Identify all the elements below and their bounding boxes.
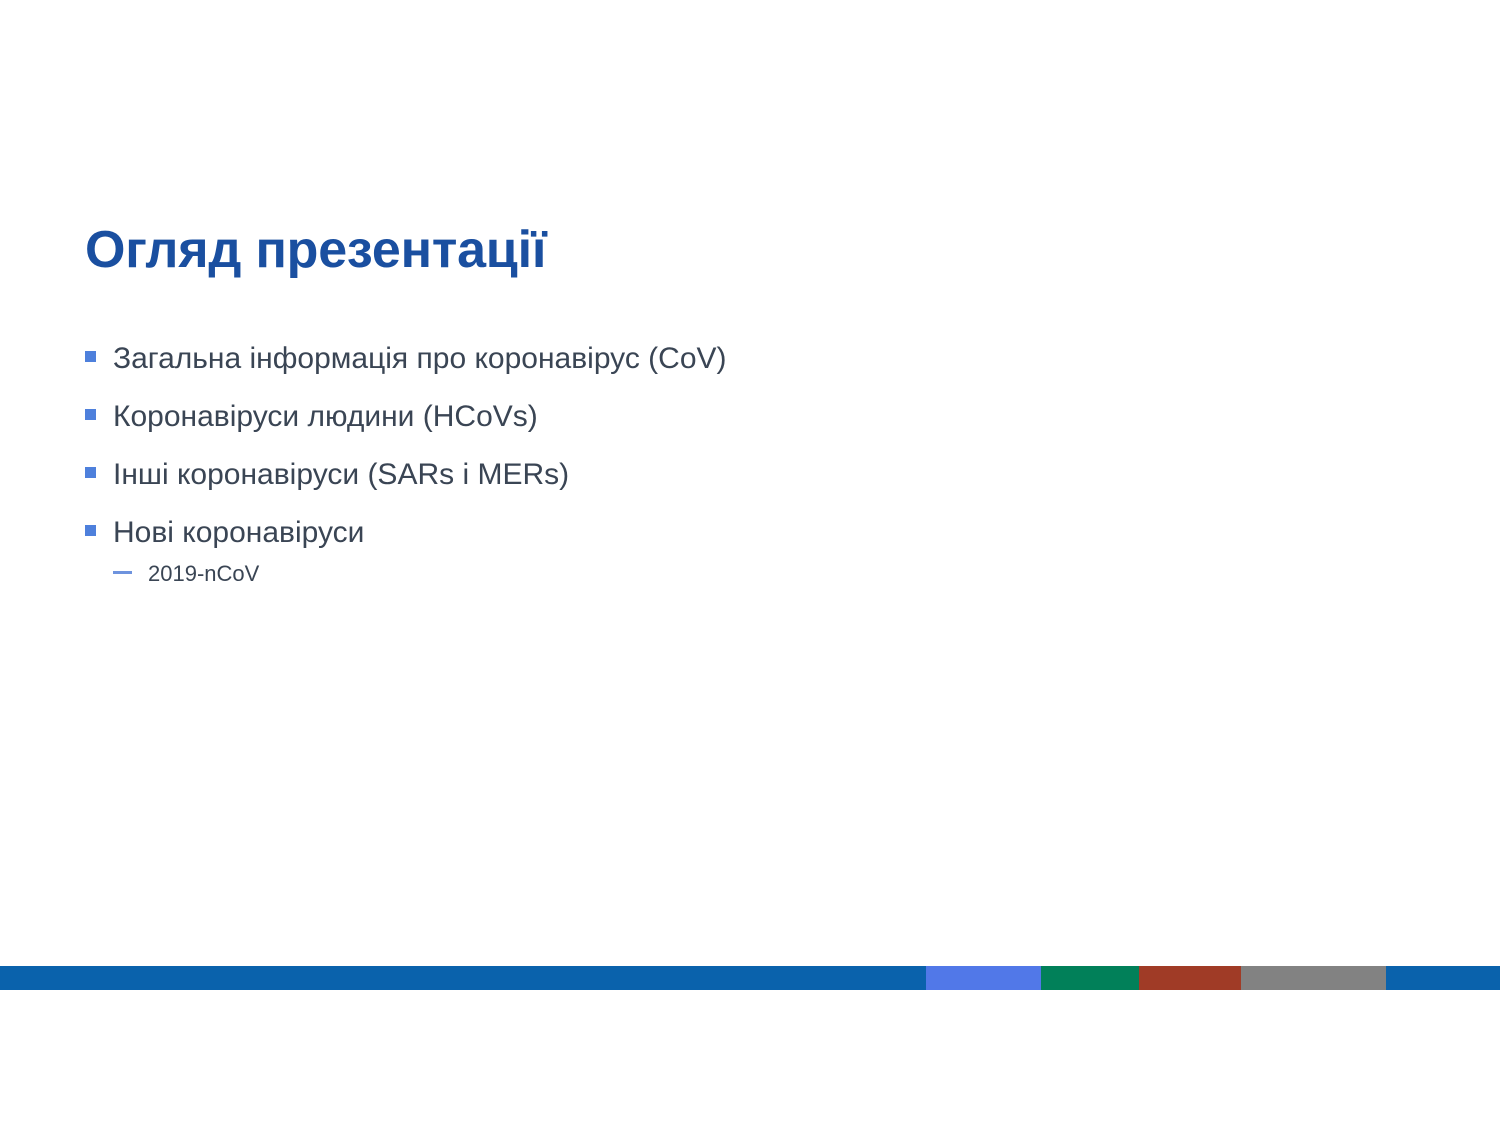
- bullet-item-label: Загальна інформація про коронавірус (CoV…: [113, 340, 727, 378]
- sub-bullet-item-label: 2019-nCoV: [148, 560, 259, 588]
- bullet-item-3: Інші коронавіруси (SARs і MERs): [85, 456, 1365, 514]
- presentation-slide: Огляд презентації Загальна інформація пр…: [0, 0, 1500, 1125]
- segment-blue-end: [1386, 966, 1500, 990]
- bullet-item-1: Загальна інформація про коронавірус (CoV…: [85, 340, 1365, 398]
- segment-rust: [1139, 966, 1241, 990]
- bullet-item-2: Коронавіруси людини (HCoVs): [85, 398, 1365, 456]
- segment-periwinkle: [926, 966, 1041, 990]
- slide-title: Огляд презентації: [85, 221, 1385, 281]
- segment-green: [1041, 966, 1139, 990]
- footer-color-bar: [0, 966, 1500, 990]
- square-bullet-icon: [85, 351, 96, 362]
- bullet-item-label: Коронавіруси людини (HCoVs): [113, 398, 538, 436]
- segment-gray: [1241, 966, 1386, 990]
- square-bullet-icon: [85, 525, 96, 536]
- slide-body-bullet-list: Загальна інформація про коронавірус (CoV…: [85, 340, 1365, 600]
- square-bullet-icon: [85, 409, 96, 420]
- dash-bullet-icon: [113, 571, 132, 574]
- sub-bullet-item-1: 2019-nCoV: [85, 560, 1365, 600]
- bullet-item-label: Інші коронавіруси (SARs і MERs): [113, 456, 569, 494]
- square-bullet-icon: [85, 467, 96, 478]
- segment-blue-main: [0, 966, 926, 990]
- bullet-item-label: Нові коронавіруси: [113, 514, 364, 552]
